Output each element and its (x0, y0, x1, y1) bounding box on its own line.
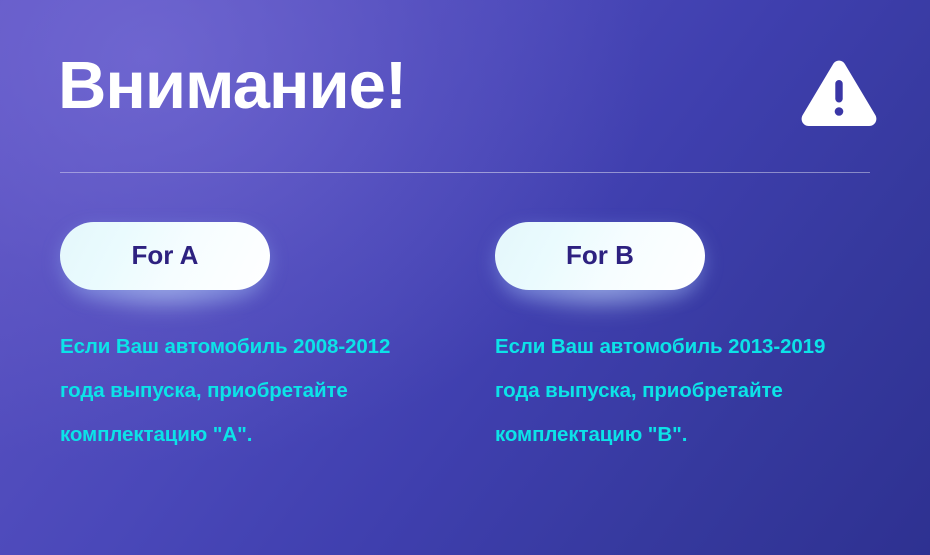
promo-banner: Внимание! For A Если Ваш автомобиль 2008… (0, 0, 930, 555)
variant-b-column: For B Если Ваш автомобиль 2013-2019 года… (495, 222, 915, 457)
variant-b-line-1: Если Ваш автомобиль 2013-2019 (495, 325, 895, 369)
page-title: Внимание! (58, 52, 406, 119)
variant-a-line-1: Если Ваш автомобиль 2008-2012 (60, 325, 460, 369)
for-a-button-wrap: For A (60, 222, 270, 290)
variant-b-line-2: года выпуска, приобретайте (495, 369, 895, 413)
variant-a-line-3: комплектацию "A". (60, 413, 460, 457)
warning-triangle-icon (798, 58, 880, 128)
for-b-button-wrap: For B (495, 222, 705, 290)
for-a-button[interactable]: For A (60, 222, 270, 290)
for-a-button-label: For A (132, 242, 199, 268)
for-b-button[interactable]: For B (495, 222, 705, 290)
variant-a-line-2: года выпуска, приобретайте (60, 369, 460, 413)
variant-b-line-3: комплектацию "B". (495, 413, 895, 457)
variant-a-description: Если Ваш автомобиль 2008-2012 года выпус… (60, 325, 460, 457)
for-b-button-label: For B (566, 242, 634, 268)
variant-a-column: For A Если Ваш автомобиль 2008-2012 года… (60, 222, 480, 457)
header-divider (60, 172, 870, 173)
variant-b-description: Если Ваш автомобиль 2013-2019 года выпус… (495, 325, 895, 457)
